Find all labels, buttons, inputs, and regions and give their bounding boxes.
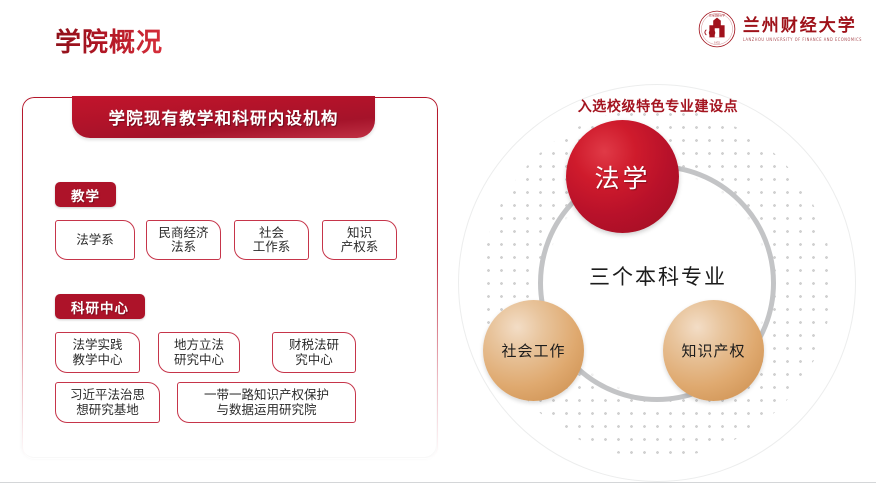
center-box-fiscal-line2: 究中心	[289, 353, 339, 368]
diagram-center-label: 三个本科专业	[452, 261, 864, 291]
section-tag-teaching-label: 教学	[71, 185, 100, 205]
dept-box-social-line1: 社会	[253, 226, 291, 241]
section-tag-research-center: 科研中心	[55, 294, 145, 319]
dept-box-civil-line1: 民商经济	[158, 226, 208, 241]
dept-box-law: 法学系	[55, 220, 135, 260]
logo-text-block: 兰州财经大学 LANZHOU UNIVERSITY OF FINANCE AND…	[743, 17, 862, 42]
major-node-social-work: 社会工作	[483, 300, 584, 401]
logo-name-en: LANZHOU UNIVERSITY OF FINANCE AND ECONOM…	[743, 37, 862, 42]
section-tag-research-label: 科研中心	[71, 297, 129, 317]
dept-box-social-line2: 工作系	[253, 240, 291, 255]
dept-box-ip-line1: 知识	[341, 226, 379, 241]
dept-box-civil-line2: 法系	[158, 240, 208, 255]
center-box-clinical-legal-education: 法学实践 教学中心	[55, 332, 140, 373]
slide-canvas: 学院概况 兰州财经大学 1952 兰州财经大学 LANZHOU UNIVERSI…	[0, 0, 876, 493]
major-node-intellectual-property-label: 知识产权	[681, 340, 745, 361]
footer-band	[0, 483, 876, 493]
majors-diagram: 入选校级特色专业建设点 三个本科专业 法学 社会工作 知识产权	[452, 78, 864, 490]
logo-name-cn: 兰州财经大学	[743, 17, 862, 36]
svg-text:1952: 1952	[714, 41, 720, 44]
center-box-belt-and-road-ip-institute: 一带一路知识产权保护 与数据运用研究院	[177, 382, 356, 423]
panel-banner-label: 学院现有教学和科研内设机构	[108, 105, 338, 129]
dept-box-ip-line2: 产权系	[341, 240, 379, 255]
dept-box-social-work: 社会 工作系	[234, 220, 309, 260]
center-box-local-line2: 研究中心	[174, 353, 224, 368]
center-box-belt-line1: 一带一路知识产权保护	[204, 388, 329, 403]
university-logo: 兰州财经大学 1952 兰州财经大学 LANZHOU UNIVERSITY OF…	[698, 10, 862, 48]
dept-box-civil-commercial-economic-law: 民商经济 法系	[146, 220, 221, 260]
center-box-xi-jinping-rule-of-law-base: 习近平法治思 想研究基地	[55, 382, 160, 423]
major-node-intellectual-property: 知识产权	[663, 300, 764, 401]
section-tag-teaching: 教学	[55, 182, 116, 207]
dept-box-intellectual-property: 知识 产权系	[322, 220, 397, 260]
dept-box-law-line1: 法学系	[76, 233, 114, 248]
center-box-clinical-line1: 法学实践	[72, 338, 122, 353]
major-node-social-work-label: 社会工作	[501, 340, 565, 361]
center-box-fiscal-line1: 财税法研	[289, 338, 339, 353]
center-box-fiscal-tax-law: 财税法研 究中心	[272, 332, 356, 373]
major-node-law: 法学	[566, 120, 679, 233]
university-crest-icon: 兰州财经大学 1952	[698, 10, 736, 48]
center-box-xi-line2: 想研究基地	[70, 403, 145, 418]
center-box-xi-line1: 习近平法治思	[70, 388, 145, 403]
center-box-belt-line2: 与数据运用研究院	[204, 403, 329, 418]
org-structure-panel: 学院现有教学和科研内设机构 教学 法学系 民商经济 法系 社会 工作系 知识 产…	[22, 97, 436, 457]
center-box-clinical-line2: 教学中心	[72, 353, 122, 368]
center-box-local-legislation: 地方立法 研究中心	[158, 332, 240, 373]
diagram-caption: 入选校级特色专业建设点	[452, 96, 864, 116]
major-node-law-label: 法学	[594, 159, 650, 195]
page-title: 学院概况	[55, 22, 163, 59]
panel-banner: 学院现有教学和科研内设机构	[72, 96, 375, 138]
center-box-local-line1: 地方立法	[174, 338, 224, 353]
